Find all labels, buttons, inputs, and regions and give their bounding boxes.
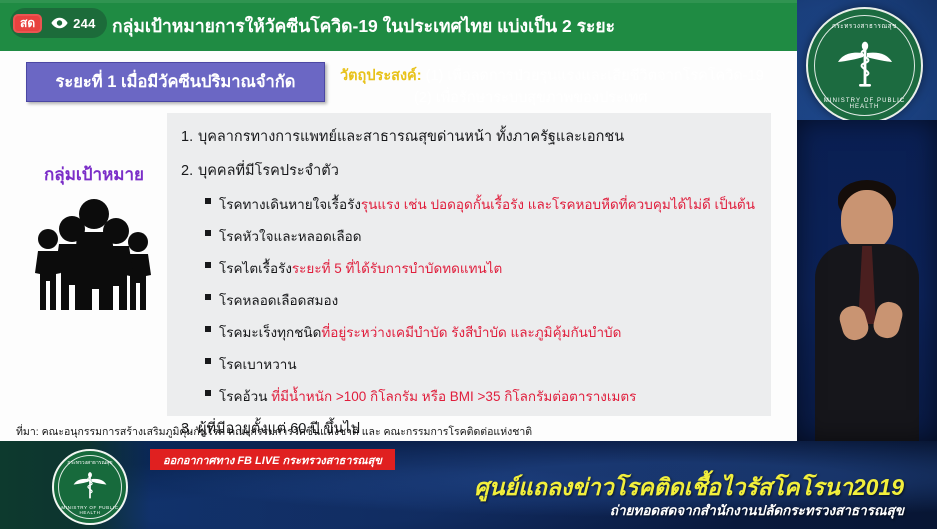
banner-ministry-logo: กระทรวงสาธารณสุข MINISTRY OF PUBLIC HEAL… bbox=[52, 449, 128, 525]
sub-item-highlight: รุนแรง เช่น ปอดอุดกั้นเรื้อรัง และโรคหอบ… bbox=[361, 197, 755, 212]
sub-item-text: โรคไตเรื้อรัง bbox=[219, 261, 292, 276]
sub-item-text: โรคอ้วน bbox=[219, 389, 271, 404]
item-text: บุคลากรทางการแพทย์และสาธารณสุขด่านหน้า ท… bbox=[198, 129, 624, 145]
banner-logo-thai-text: กระทรวงสาธารณสุข bbox=[59, 459, 121, 467]
list-item: โรคเบาหวาน bbox=[219, 353, 771, 375]
target-group-list: 1.บุคลากรทางการแพทย์และสาธารณสุขด่านหน้า… bbox=[167, 113, 771, 474]
sub-item-highlight: ที่อยู่ระหว่างเคมีบำบัด รังสีบำบัด และภู… bbox=[321, 325, 621, 340]
eye-icon bbox=[51, 17, 68, 29]
list-item: โรคหลอดเลือดสมอง bbox=[219, 289, 771, 311]
list-item: โรคอ้วน ที่มีน้ำหนัก >100 กิโลกรัม หรือ … bbox=[219, 385, 771, 407]
bullet-square-icon bbox=[205, 390, 211, 396]
interpreter-vignette bbox=[797, 120, 937, 441]
list-item: 1.บุคลากรทางการแพทย์และสาธารณสุขด่านหน้า… bbox=[181, 125, 771, 148]
bullet-square-icon bbox=[205, 358, 211, 364]
live-header-bar: สด 244 กลุ่มเป้าหมายการให้วัคซีนโควิด-19… bbox=[0, 0, 797, 51]
caduceus-icon bbox=[837, 37, 893, 95]
sub-item-text: โรคเบาหวาน bbox=[219, 357, 297, 372]
source-footnote: ที่มา: คณะอนุกรรมการสร้างเสริมภูมิคุ้มกั… bbox=[16, 423, 532, 440]
viewer-count: 244 bbox=[73, 16, 96, 31]
bullet-square-icon bbox=[205, 230, 211, 236]
objective-line-1: วัตถุประสงค์: (1) เพื่อลดการป่วยรุนแรงแล… bbox=[340, 65, 764, 87]
banner-logo-eng-text: MINISTRY OF PUBLIC HEALTH bbox=[59, 505, 121, 515]
fb-live-tag: ออกอากาศทาง FB LIVE กระทรวงสาธารณสุข bbox=[150, 449, 395, 470]
list-item: โรคหัวใจและหลอดเลือด bbox=[219, 225, 771, 247]
bullet-square-icon bbox=[205, 294, 211, 300]
banner-logo-ring: กระทรวงสาธารณสุข MINISTRY OF PUBLIC HEAL… bbox=[58, 455, 122, 519]
content-panel: 1.บุคลากรทางการแพทย์และสาธารณสุขด่านหน้า… bbox=[167, 113, 771, 416]
ministry-logo: กระทรวงสาธารณสุข MINISTRY OF PUBLIC HEAL… bbox=[806, 7, 923, 124]
target-group-label: กลุ่มเป้าหมาย bbox=[24, 161, 164, 188]
list-item: โรคมะเร็งทุกชนิดที่อยู่ระหว่างเคมีบำบัด … bbox=[219, 321, 771, 343]
ministry-logo-eng-text: MINISTRY OF PUBLIC HEALTH bbox=[815, 98, 914, 110]
list-item: โรคไตเรื้อรังระยะที่ 5 ที่ได้รับการบำบัด… bbox=[219, 257, 771, 279]
list-item: 2.บุคคลที่มีโรคประจำตัว bbox=[181, 159, 771, 182]
live-status-group: สด 244 bbox=[10, 8, 107, 38]
list-item: โรคทางเดินหายใจเรื้อรังรุนแรง เช่น ปอดอุ… bbox=[219, 193, 771, 215]
objective-item-1: (1) เพื่อลดการป่วยรุนแรงและเสียชีวิตจากโ… bbox=[426, 68, 764, 84]
broadcast-banner: กระทรวงสาธารณสุข MINISTRY OF PUBLIC HEAL… bbox=[0, 441, 937, 529]
sub-item-text: โรคมะเร็งทุกชนิด bbox=[219, 325, 321, 340]
objective-item-2: (2) เพื่อรักษาระบบสุขภาพของประเทศ bbox=[414, 87, 764, 109]
broadcast-screen: สด 244 กลุ่มเป้าหมายการให้วัคซีนโควิด-19… bbox=[0, 0, 937, 529]
group-of-people-icon bbox=[30, 195, 158, 315]
phase-badge: ระยะที่ 1 เมื่อมีวัคซีนปริมาณจำกัด bbox=[26, 62, 325, 102]
bullet-square-icon bbox=[205, 262, 211, 268]
bullet-square-icon bbox=[205, 198, 211, 204]
live-badge: สด bbox=[13, 14, 42, 33]
sub-item-highlight: ที่มีน้ำหนัก >100 กิโลกรัม หรือ BMI >35 … bbox=[271, 389, 636, 404]
sub-item-highlight: ระยะที่ 5 ที่ได้รับการบำบัดทดแทนไต bbox=[292, 261, 502, 276]
item-number: 2. bbox=[181, 163, 198, 179]
item-number: 1. bbox=[181, 129, 198, 145]
sign-language-interpreter-inset bbox=[797, 120, 937, 441]
ministry-logo-thai-text: กระทรวงสาธารณสุข bbox=[820, 21, 909, 32]
page-title: กลุ่มเป้าหมายการให้วัคซีนโควิด-19 ในประเ… bbox=[112, 0, 615, 51]
sub-item-text: โรคหลอดเลือดสมอง bbox=[219, 293, 338, 308]
presentation-slide: ระยะที่ 1 เมื่อมีวัคซีนปริมาณจำกัด วัตถุ… bbox=[0, 51, 797, 441]
objective-block: วัตถุประสงค์: (1) เพื่อลดการป่วยรุนแรงแล… bbox=[340, 65, 764, 110]
item-text: บุคคลที่มีโรคประจำตัว bbox=[198, 163, 339, 179]
banner-caduceus-icon bbox=[73, 469, 107, 505]
objective-label: วัตถุประสงค์: bbox=[340, 68, 422, 84]
ministry-logo-ring: กระทรวงสาธารณสุข MINISTRY OF PUBLIC HEAL… bbox=[814, 15, 915, 116]
sub-item-text: โรคทางเดินหายใจเรื้อรัง bbox=[219, 197, 361, 212]
chronic-disease-sublist: โรคทางเดินหายใจเรื้อรังรุนแรง เช่น ปอดอุ… bbox=[181, 193, 771, 407]
phase-badge-label: ระยะที่ 1 เมื่อมีวัคซีนปริมาณจำกัด bbox=[56, 69, 296, 95]
bullet-square-icon bbox=[205, 326, 211, 332]
sub-item-text: โรคหัวใจและหลอดเลือด bbox=[219, 229, 362, 244]
banner-subtitle: ถ่ายทอดสดจากสำนักงานปลัดกระทรวงสาธารณสุข bbox=[610, 499, 904, 521]
